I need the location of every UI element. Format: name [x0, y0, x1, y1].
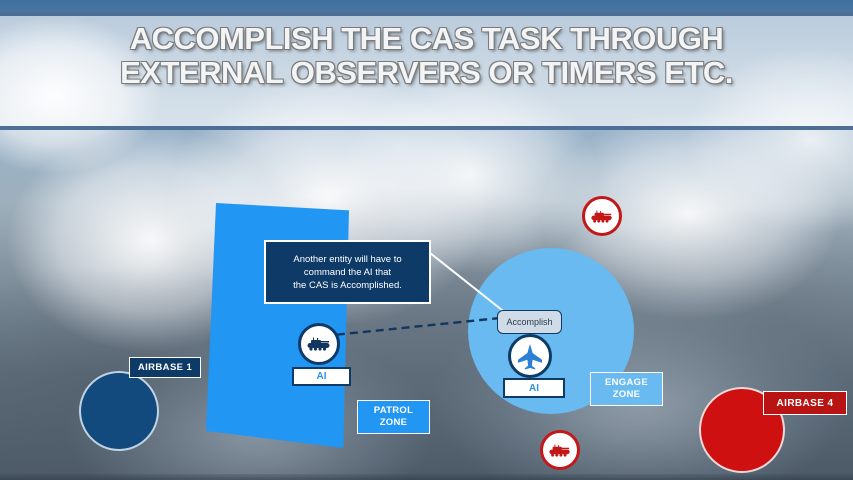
- tank-icon: [590, 209, 614, 224]
- airbase-4-label: AIRBASE 4: [763, 391, 847, 415]
- callout-text: Another entity will have to command the …: [287, 253, 408, 292]
- blue-jet-unit-marker[interactable]: [508, 334, 552, 378]
- callout-box: Another entity will have to command the …: [264, 240, 431, 304]
- tank-icon: [548, 443, 572, 458]
- blue-tank-unit-marker[interactable]: [298, 323, 340, 365]
- accomplish-action-box[interactable]: Accomplish: [497, 310, 562, 334]
- air-ai-label: AI: [503, 378, 565, 398]
- tank-icon: [306, 336, 332, 352]
- airbase-1-circle: [79, 371, 159, 451]
- presentation-slide: ACCOMPLISH THE CAS TASK THROUGH EXTERNAL…: [0, 0, 853, 480]
- ground-ai-label: AI: [292, 367, 351, 386]
- red-tank-unit-marker-north[interactable]: [582, 196, 622, 236]
- airbase-1-label: AIRBASE 1: [129, 357, 201, 378]
- red-tank-unit-marker-south[interactable]: [540, 430, 580, 470]
- engage-zone-label: ENGAGE ZONE: [590, 372, 663, 406]
- fighter-jet-icon: [515, 341, 545, 371]
- patrol-zone-label: PATROL ZONE: [357, 400, 430, 434]
- slide-title: ACCOMPLISH THE CAS TASK THROUGH EXTERNAL…: [0, 22, 853, 90]
- bottom-strip: [0, 474, 853, 480]
- command-dashed-arrow: [322, 310, 517, 350]
